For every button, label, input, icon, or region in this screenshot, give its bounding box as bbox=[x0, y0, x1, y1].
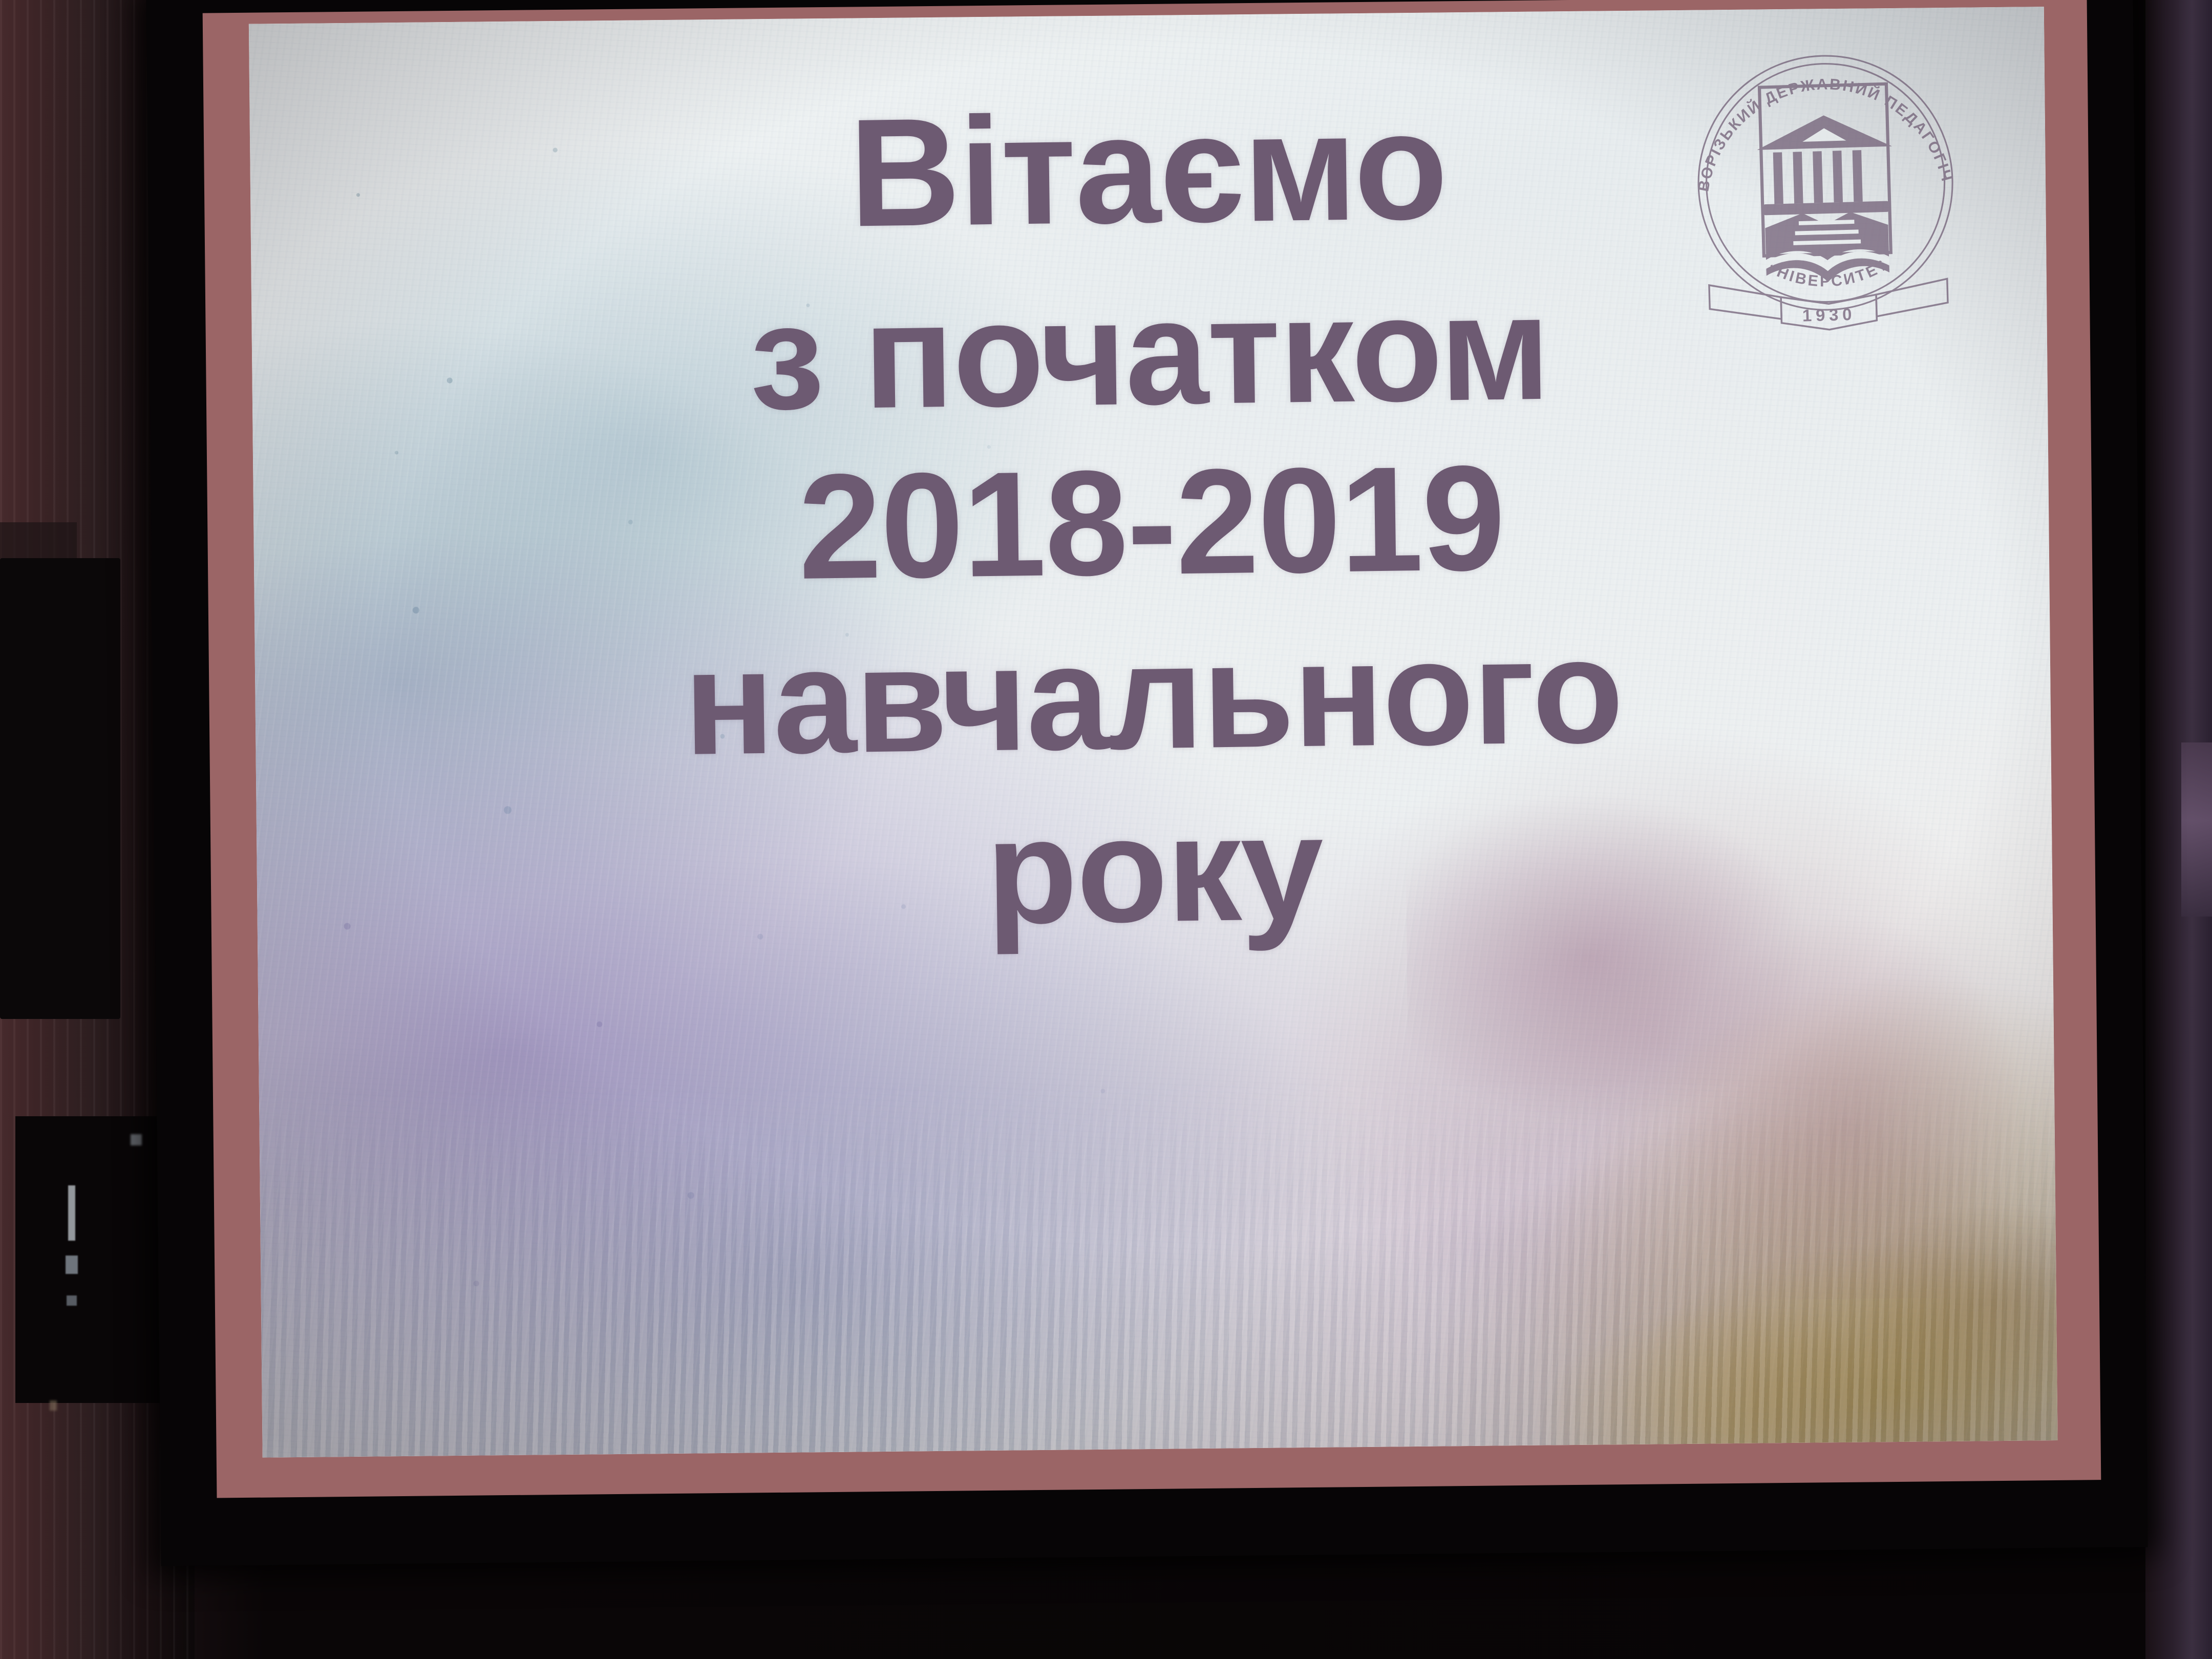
slide-content-area: Вітаємо з початком 2018-2019 навчального… bbox=[249, 7, 2058, 1458]
slide-line-1: Вітаємо bbox=[848, 88, 1447, 249]
light-reflection-e bbox=[50, 1400, 57, 1411]
slide-line-4: навчального bbox=[683, 615, 1623, 777]
university-emblem-icon: КРИВОРІЗЬКИЙ ДЕРЖАВНИЙ ПЕДАГОГІЧНИЙ УНІВ… bbox=[1662, 12, 1988, 348]
light-reflection-a bbox=[66, 1256, 78, 1274]
equipment-silhouette-lower bbox=[15, 1116, 169, 1403]
equipment-silhouette-top bbox=[0, 522, 77, 563]
slide-line-3: 2018-2019 bbox=[797, 443, 1505, 602]
slide-line-5: року bbox=[985, 793, 1324, 947]
projection-screen-frame: Вітаємо з початком 2018-2019 навчального… bbox=[146, 0, 2147, 1566]
equipment-silhouette-upper bbox=[0, 558, 120, 1019]
screenshot-root: Вітаємо з початком 2018-2019 навчального… bbox=[0, 0, 2212, 1659]
light-reflection-b bbox=[67, 1295, 77, 1306]
slide-line-2: з початком bbox=[749, 272, 1550, 432]
presentation-slide: Вітаємо з початком 2018-2019 навчального… bbox=[203, 0, 2101, 1498]
light-reflection-c bbox=[131, 1134, 142, 1145]
right-wall-highlight bbox=[2181, 742, 2212, 917]
light-reflection-vertical bbox=[68, 1185, 75, 1241]
svg-text:КРИВОРІЗЬКИЙ ДЕРЖАВНИЙ ПЕДАГОГ: КРИВОРІЗЬКИЙ ДЕРЖАВНИЙ ПЕДАГОГІЧНИЙ bbox=[1662, 12, 1955, 195]
svg-text:1930: 1930 bbox=[1802, 305, 1856, 325]
